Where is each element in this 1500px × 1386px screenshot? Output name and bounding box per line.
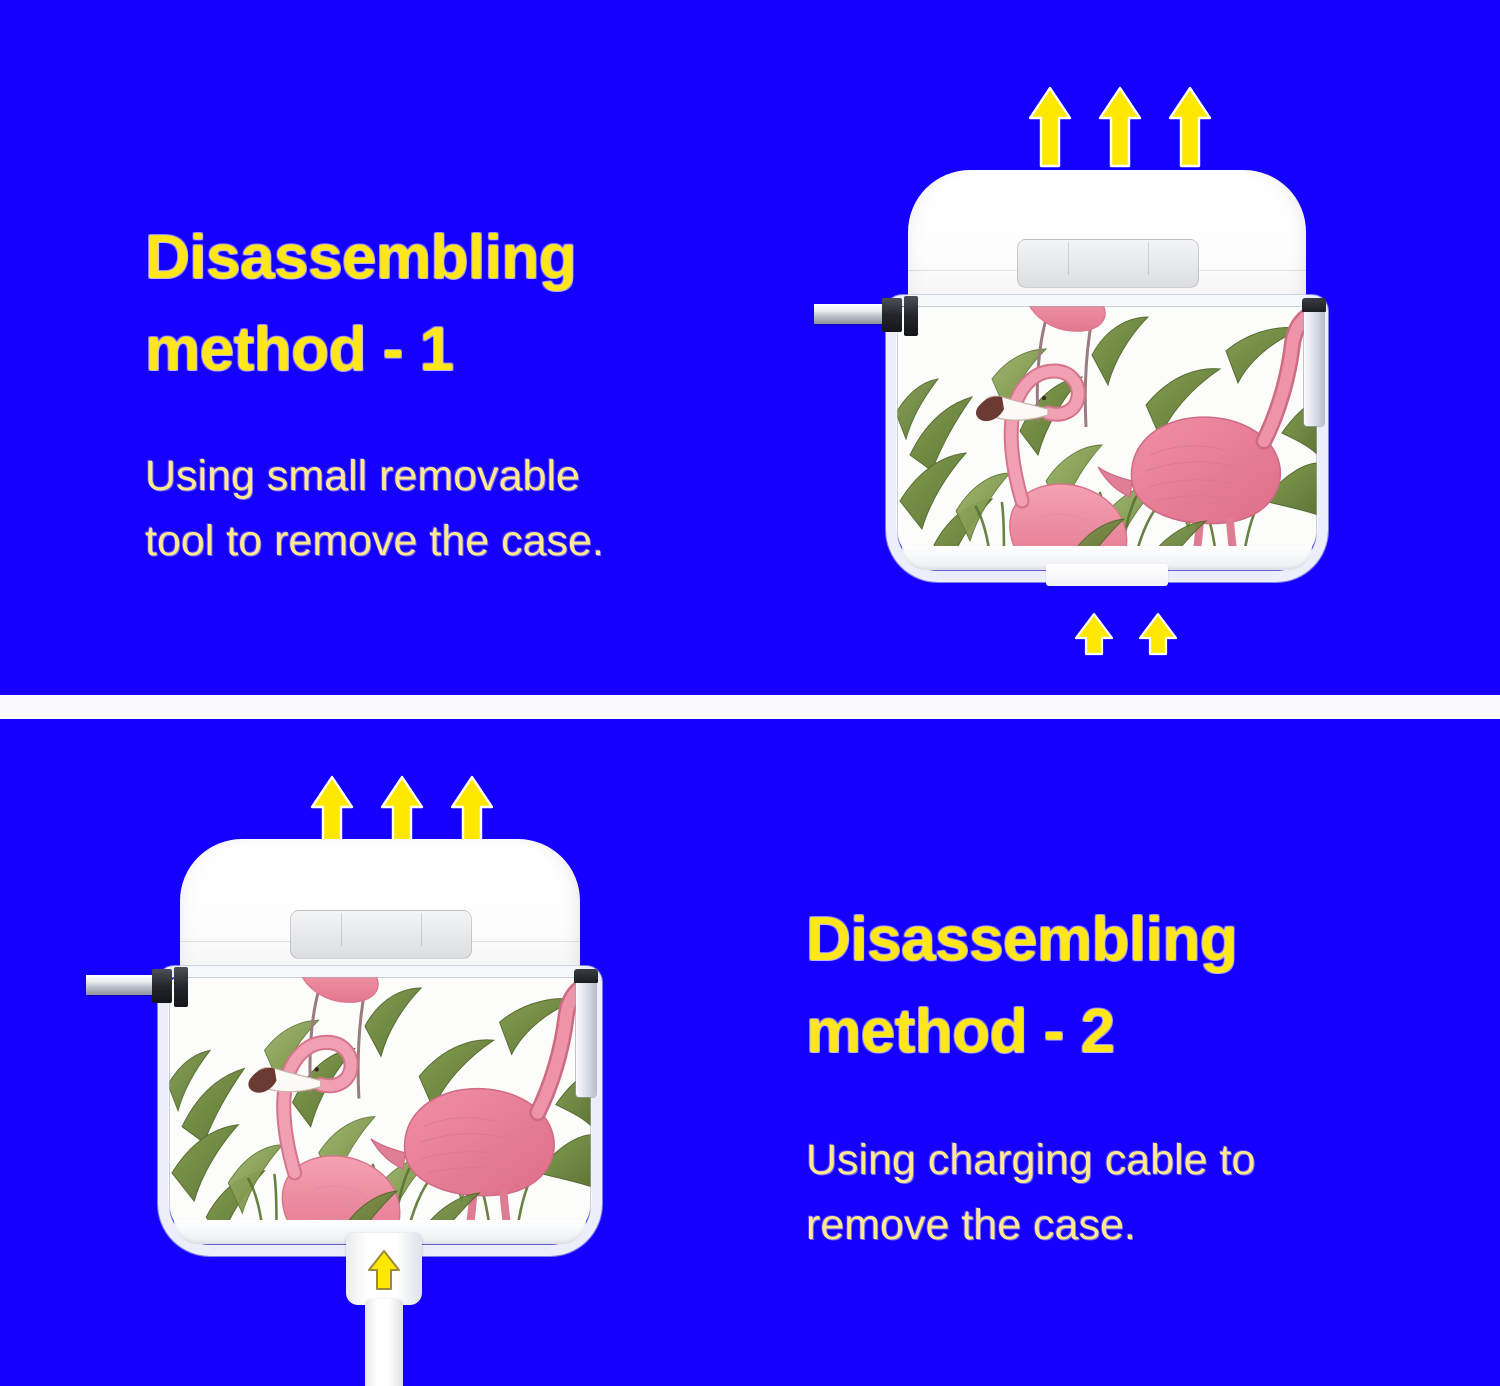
flamingo-tropical-pattern <box>168 976 592 1242</box>
panel-divider <box>0 695 1500 719</box>
case-right-clip-cap <box>574 969 598 983</box>
case-right-clip <box>576 977 596 1097</box>
up-arrow-icon <box>1138 612 1178 656</box>
up-arrow-icon <box>1074 612 1114 656</box>
instruction-graphic: Disassembling method - 1 Using small rem… <box>0 0 1500 1386</box>
up-arrow-icon <box>366 1248 402 1297</box>
method-1-subtext: Using small removable tool to remove the… <box>145 444 785 575</box>
airpods-case-illustration-1 <box>810 160 1390 600</box>
up-arrow-icon <box>1028 86 1072 168</box>
pry-tool-icon <box>80 961 210 1007</box>
pry-tool-icon <box>810 290 940 336</box>
case-shell-printed <box>896 305 1318 570</box>
case-latch <box>290 910 472 959</box>
case-latch <box>1017 239 1199 288</box>
up-arrow-icon <box>1168 86 1212 168</box>
method-1-text-block: Disassembling method - 1 Using small rem… <box>145 212 785 574</box>
airpods-case-illustration-2 <box>80 829 700 1309</box>
charging-cable-wire <box>365 1299 403 1386</box>
case-right-clip <box>1304 306 1324 426</box>
panel-method-2: Disassembling method - 2 Using charging … <box>0 719 1500 1386</box>
up-arrow-icon <box>1098 86 1142 168</box>
case-shell-printed <box>168 976 592 1244</box>
method-1-heading: Disassembling method - 1 <box>145 212 785 396</box>
flamingo-tropical-pattern <box>896 305 1318 570</box>
method-2-text-block: Disassembling method - 2 Using charging … <box>806 894 1426 1258</box>
method-2-subtext: Using charging cable to remove the case. <box>806 1128 1426 1259</box>
charging-port-nub <box>1046 564 1168 586</box>
case-right-clip-cap <box>1302 298 1326 312</box>
method-2-heading: Disassembling method - 2 <box>806 894 1426 1078</box>
panel-method-1: Disassembling method - 1 Using small rem… <box>0 0 1500 695</box>
